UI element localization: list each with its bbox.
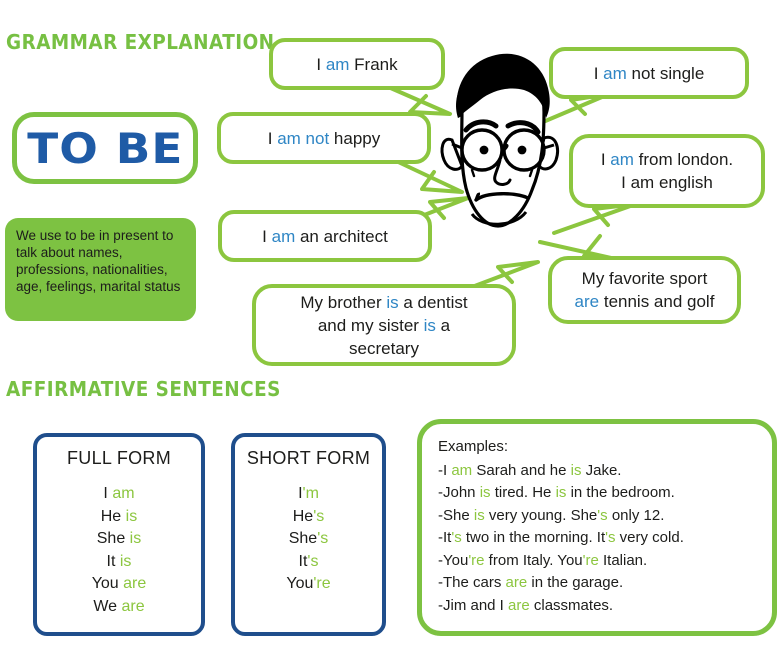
cartoon-man-face-illustration	[432, 44, 568, 234]
conjugation-row: We are	[93, 596, 144, 619]
bubble-text: I am an architect	[262, 225, 388, 248]
example-line: -I am Sarah and he is Jake.	[438, 460, 756, 483]
conjugation-row: You're	[286, 573, 330, 596]
speech-bubble-frank: I am Frank	[269, 38, 445, 90]
conjugation-row: It is	[107, 551, 132, 574]
examples-list: -I am Sarah and he is Jake.-John is tire…	[438, 460, 756, 618]
grammar-explanation-heading: GRAMMAR EXPLANATION	[6, 30, 275, 54]
bubble-text: My favorite sportare tennis and golf	[575, 267, 715, 313]
full-form-box: FULL FORM I amHe isShe isIt isYou areWe …	[33, 433, 205, 636]
full-form-title: FULL FORM	[67, 448, 171, 469]
conjugation-row: You are	[92, 573, 147, 596]
conjugation-row: He is	[101, 506, 137, 529]
bubble-text: I am from london.I am english	[601, 148, 733, 194]
conjugation-row: I am	[103, 483, 134, 506]
conjugation-row: I'm	[298, 483, 319, 506]
example-line: -It's two in the morning. It's very cold…	[438, 527, 756, 550]
full-form-list: I amHe isShe isIt isYou areWe are	[92, 483, 147, 618]
example-line: -Jim and I are classmates.	[438, 595, 756, 618]
short-form-box: SHORT FORM I'mHe'sShe'sIt'sYou're	[231, 433, 386, 636]
speech-bubble-sport: My favorite sportare tennis and golf	[548, 256, 741, 324]
bubble-text: I am not happy	[268, 127, 380, 150]
example-line: -The cars are in the garage.	[438, 572, 756, 595]
to-be-title-box: TO BE	[12, 112, 198, 184]
short-form-list: I'mHe'sShe'sIt'sYou're	[286, 483, 330, 596]
example-line: -You're from Italy. You're Italian.	[438, 550, 756, 573]
speech-bubble-not-single: I am not single	[549, 47, 749, 99]
speech-bubble-architect: I am an architect	[218, 210, 432, 262]
speech-bubble-not-happy: I am not happy	[217, 112, 431, 164]
examples-box: Examples: -I am Sarah and he is Jake.-Jo…	[417, 419, 777, 636]
conjugation-row: It's	[299, 551, 319, 574]
conjugation-row: She is	[97, 528, 141, 551]
speech-bubble-london: I am from london.I am english	[569, 134, 765, 208]
conjugation-row: He's	[293, 506, 325, 529]
affirmative-sentences-heading: AFFIRMATIVE SENTENCES	[6, 377, 281, 401]
to-be-title-text: TO BE	[27, 124, 183, 173]
bubble-text: My brother is a dentistand my sister is …	[300, 291, 467, 360]
example-line: -She is very young. She's only 12.	[438, 505, 756, 528]
short-form-title: SHORT FORM	[247, 448, 370, 469]
conjugation-row: She's	[289, 528, 329, 551]
usage-explanation-box: We use to be in present to talk about na…	[5, 218, 196, 321]
speech-bubble-dentist: My brother is a dentistand my sister is …	[252, 284, 516, 366]
bubble-text: I am not single	[594, 62, 705, 85]
example-line: -John is tired. He is in the bedroom.	[438, 482, 756, 505]
examples-title: Examples:	[438, 436, 756, 459]
bubble-text: I am Frank	[316, 53, 397, 76]
